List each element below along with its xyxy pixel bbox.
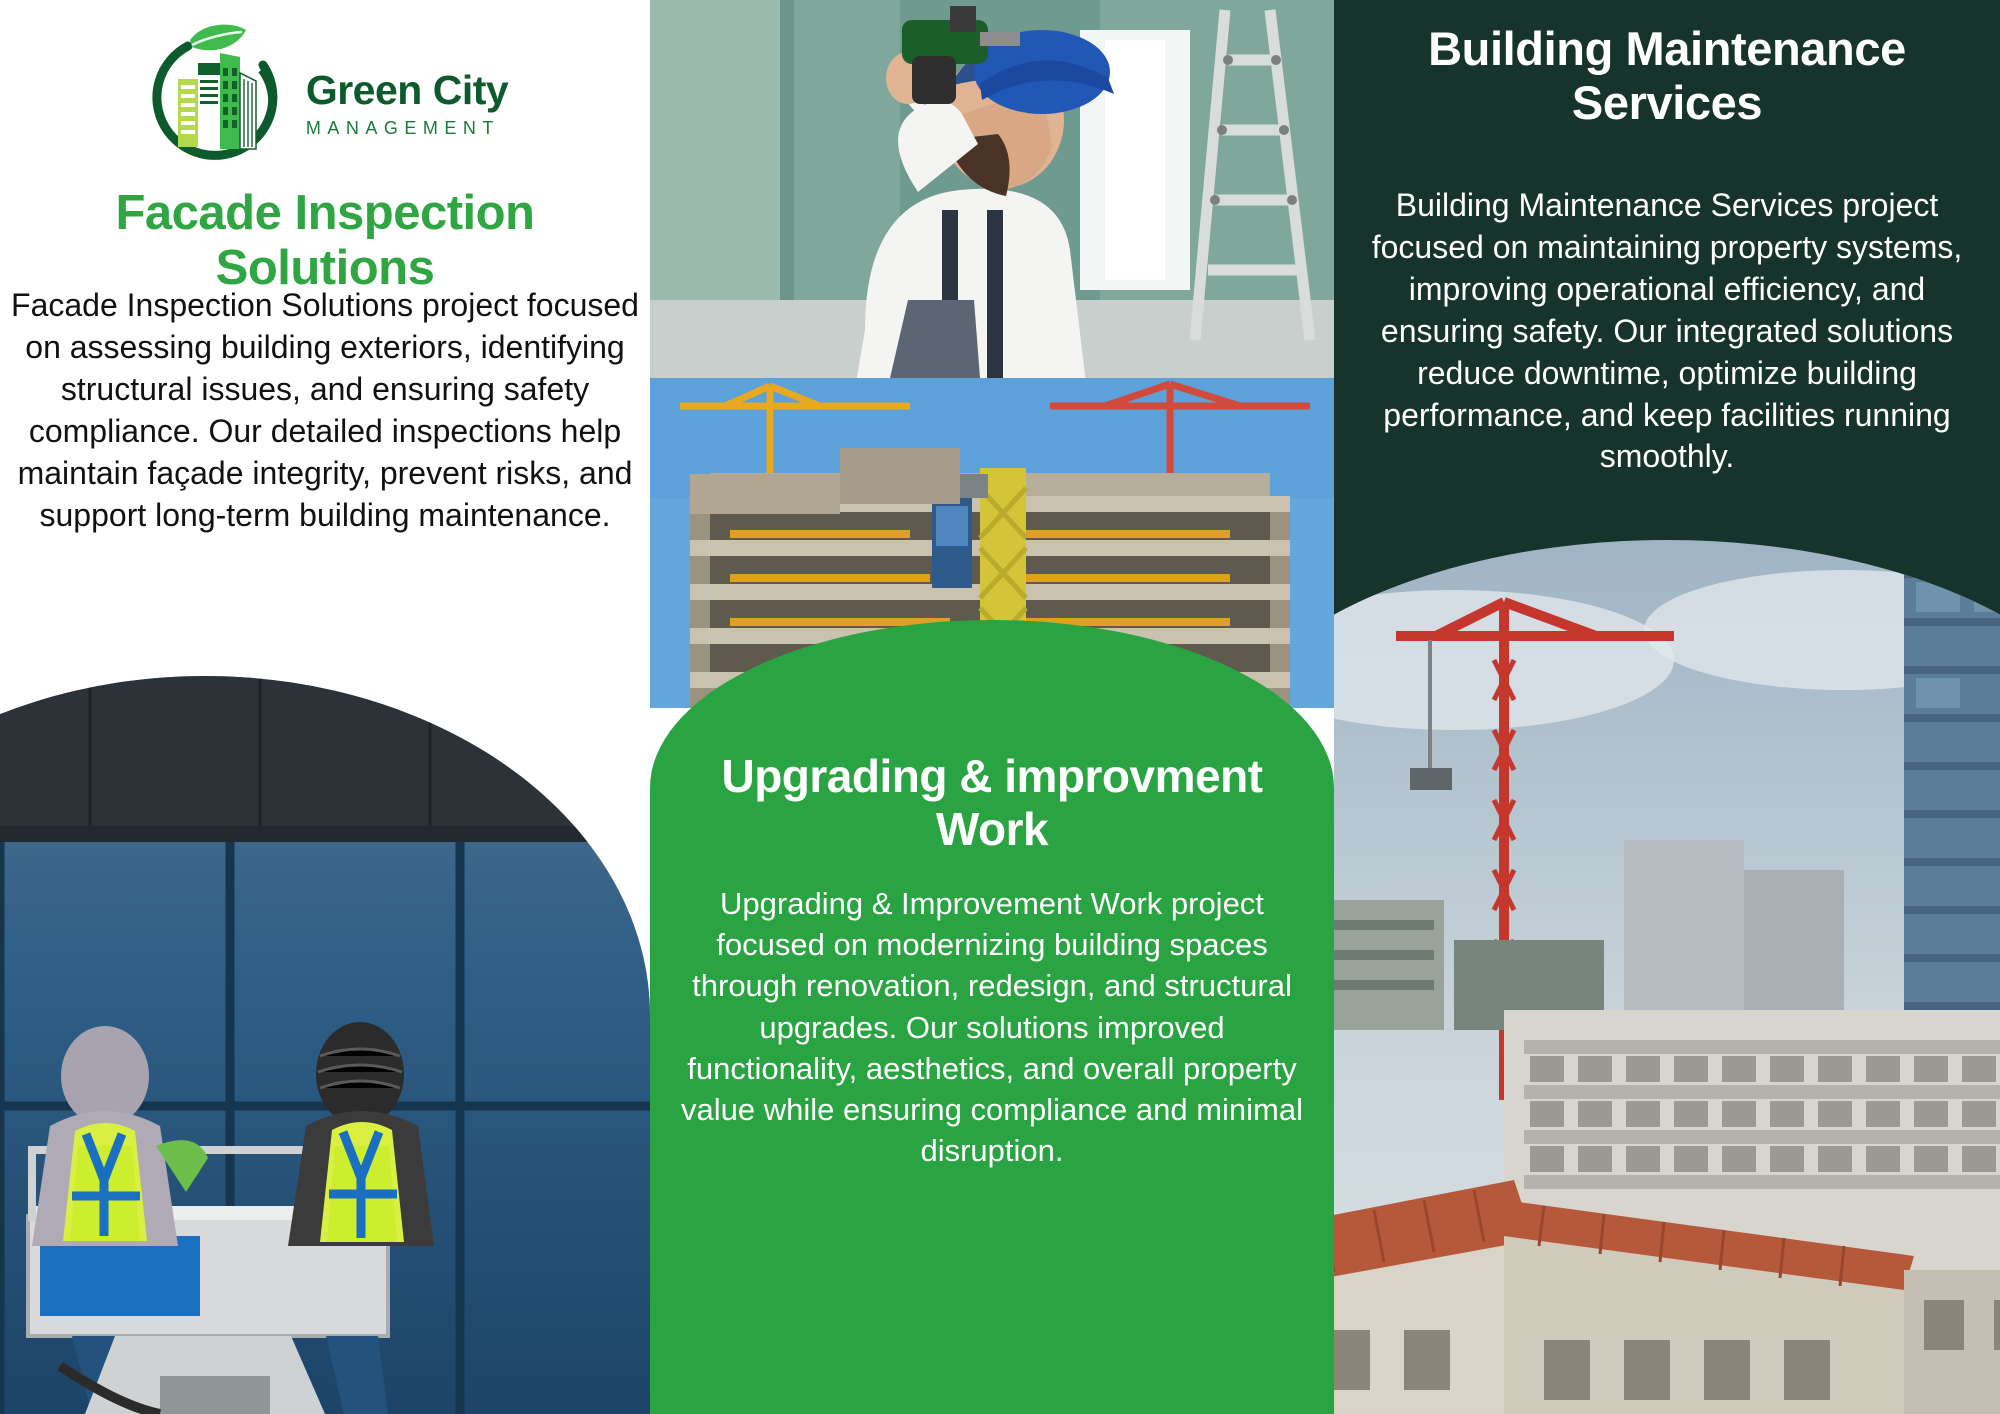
drill-worker-photo (650, 0, 1334, 378)
left-panel: Green City MANAGEMENT Facade Inspection … (0, 0, 650, 1414)
middle-panel: Upgrading & improvment Work Upgrading & … (650, 0, 1334, 1414)
brochure-poster: Green City MANAGEMENT Facade Inspection … (0, 0, 2000, 1414)
brand-logo[interactable]: Green City MANAGEMENT (0, 18, 650, 178)
right-panel-body: Building Maintenance Services project fo… (1348, 185, 1986, 478)
left-panel-heading: Facade Inspection Solutions (20, 186, 630, 296)
middle-panel-heading: Upgrading & improvment Work (690, 750, 1294, 857)
city-skyline-crane-photo (1334, 540, 2000, 1414)
brand-logo-text: Green City MANAGEMENT (306, 60, 508, 137)
facade-workers-photo (0, 676, 650, 1414)
brand-tagline: MANAGEMENT (306, 119, 500, 137)
right-panel: Building Maintenance Services Building M… (1334, 0, 2000, 1414)
right-panel-heading: Building Maintenance Services (1356, 22, 1978, 130)
green-content-panel: Upgrading & improvment Work Upgrading & … (650, 620, 1334, 1414)
middle-panel-body: Upgrading & Improvement Work project foc… (674, 883, 1310, 1172)
left-panel-body: Facade Inspection Solutions project focu… (8, 285, 642, 536)
brand-name: Green City (306, 70, 508, 111)
green-city-logo-icon (142, 23, 292, 173)
